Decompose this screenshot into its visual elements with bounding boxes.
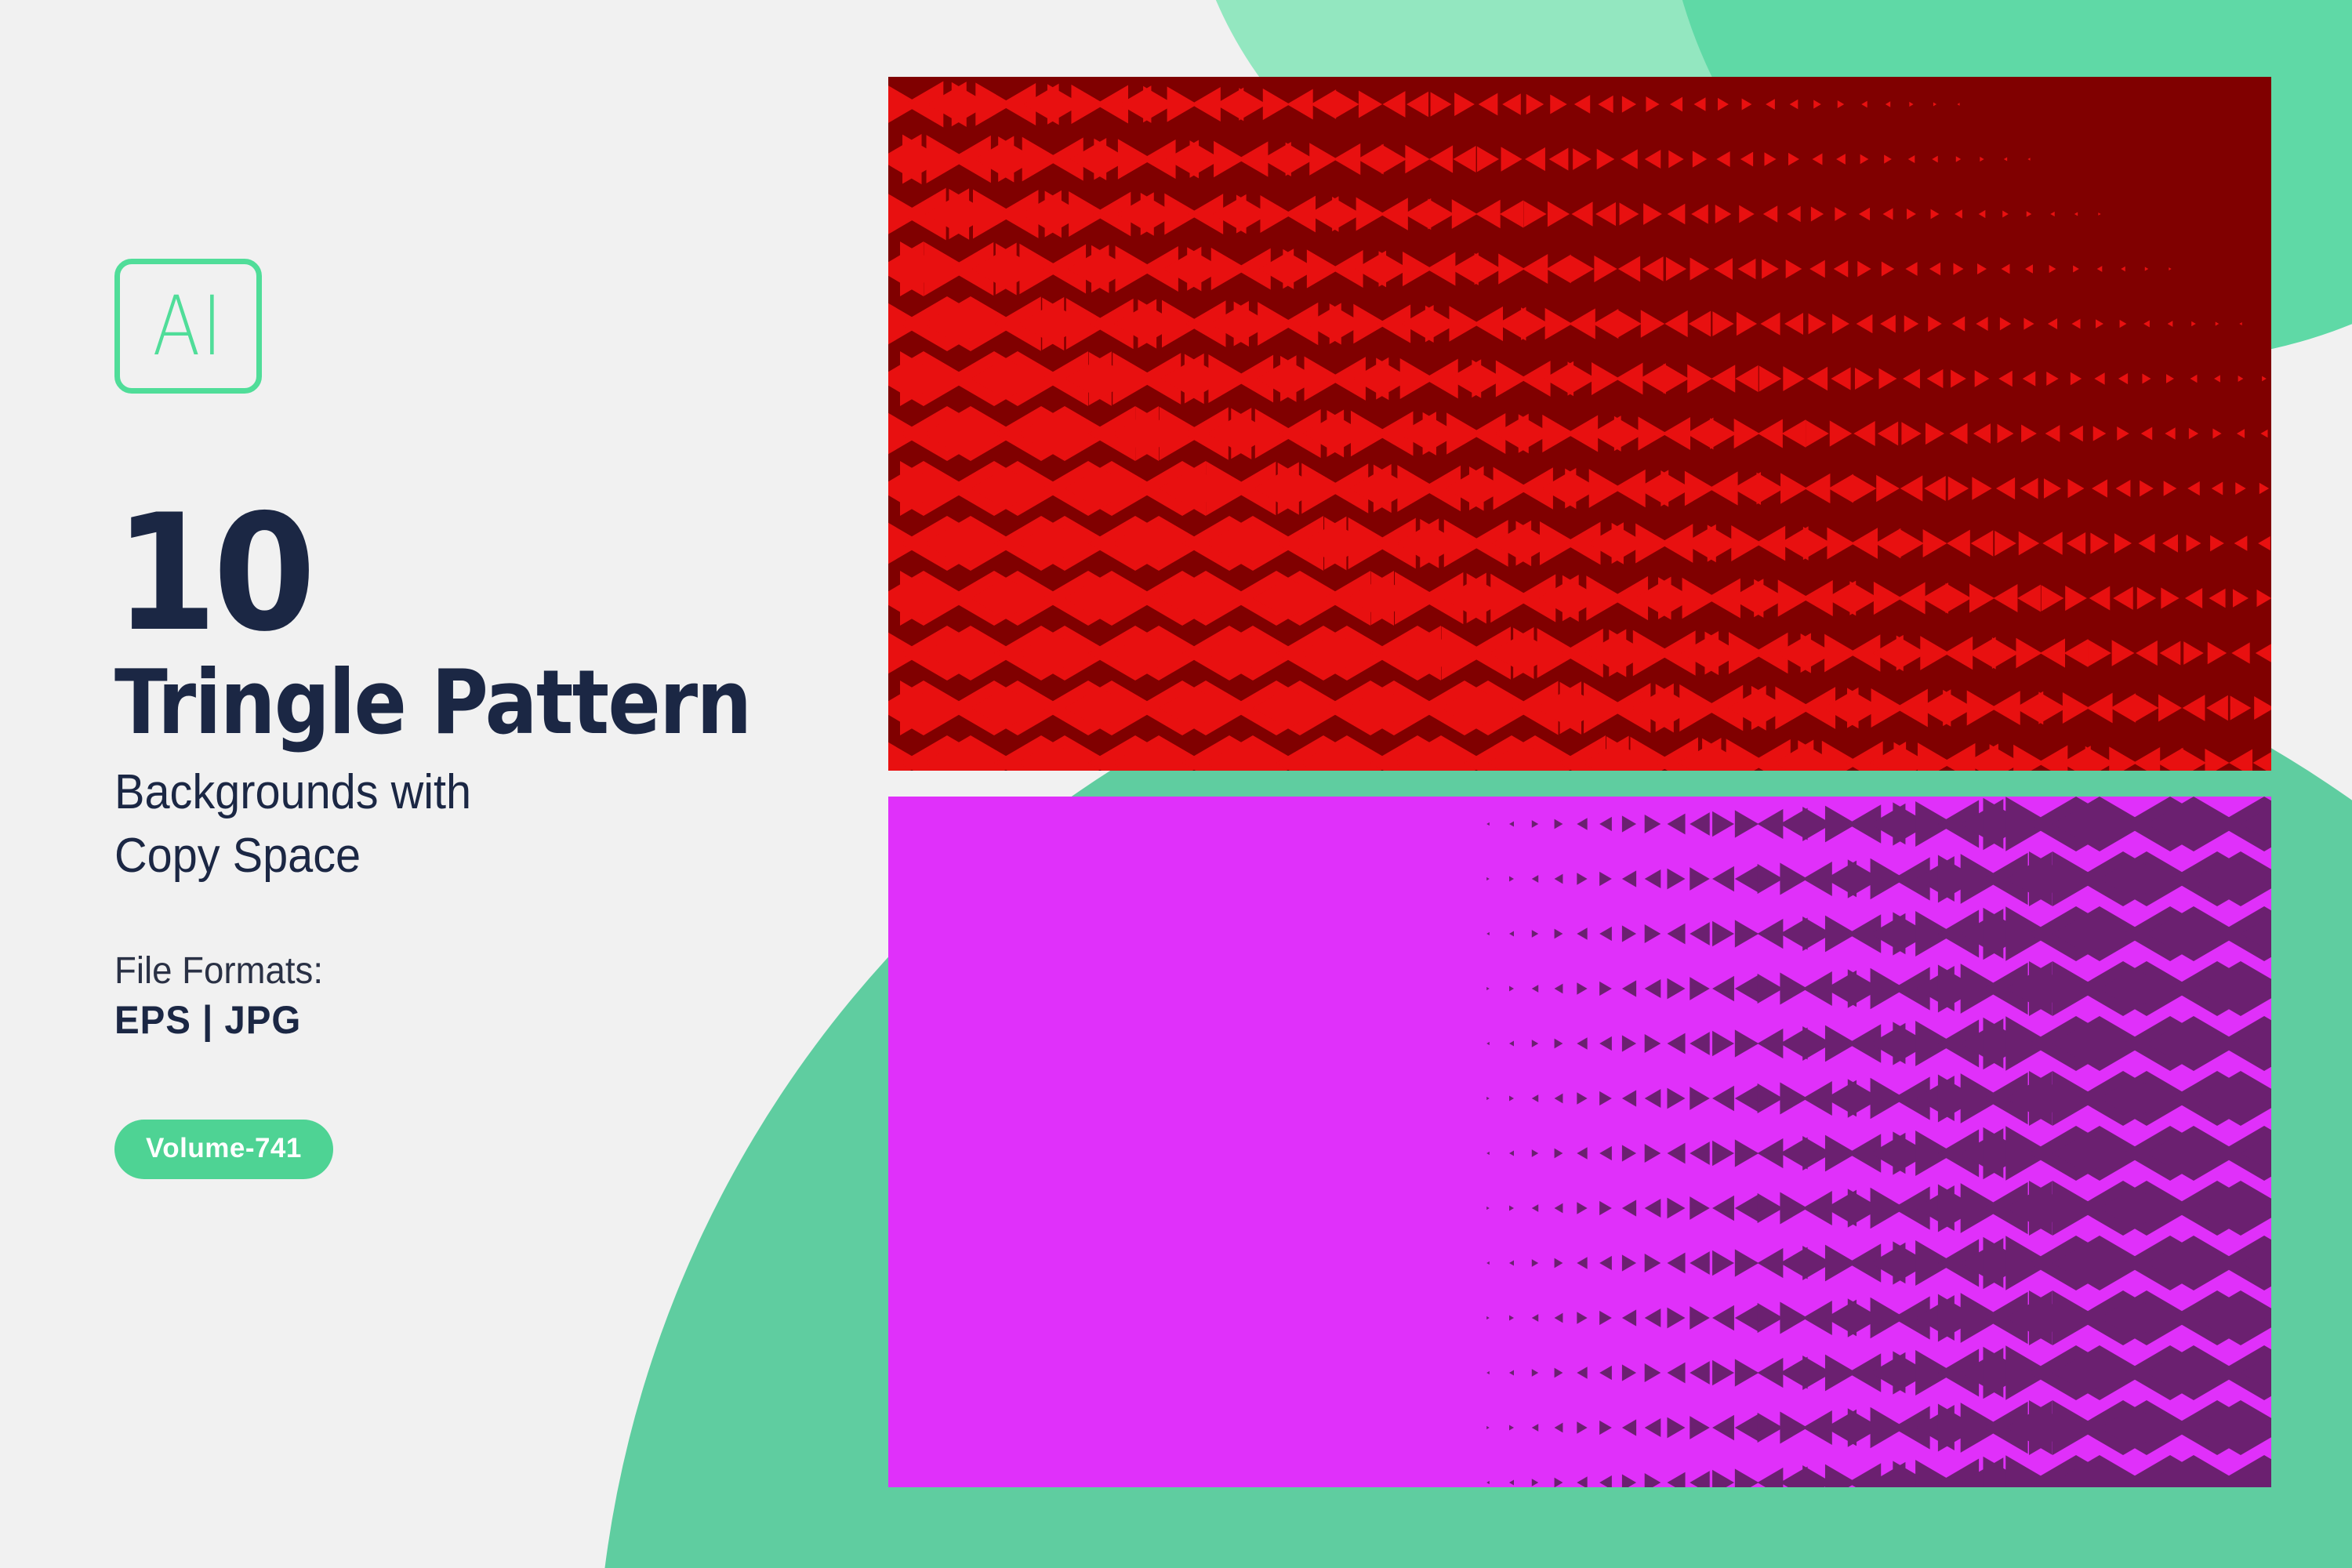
info-column: AI 10 Tringle Pattern Backgrounds with C… — [114, 259, 867, 1179]
red-triangle-pattern-preview — [888, 77, 2271, 771]
volume-badge: Volume-741 — [114, 1120, 333, 1179]
magenta-triangle-pattern-preview — [888, 797, 2271, 1487]
page-subtitle-line-1: Backgrounds with — [114, 761, 815, 825]
adobe-illustrator-badge-icon: AI — [114, 259, 262, 394]
file-formats-value: EPS | JPG — [114, 997, 829, 1043]
file-formats-label: File Formats: — [114, 949, 829, 993]
page-subtitle: Backgrounds with Copy Space — [114, 761, 815, 887]
badge-label: AI — [152, 285, 223, 367]
page-title: Tringle Pattern — [114, 659, 777, 747]
page-subtitle-line-2: Copy Space — [114, 825, 815, 888]
pack-count: 10 — [114, 503, 807, 644]
